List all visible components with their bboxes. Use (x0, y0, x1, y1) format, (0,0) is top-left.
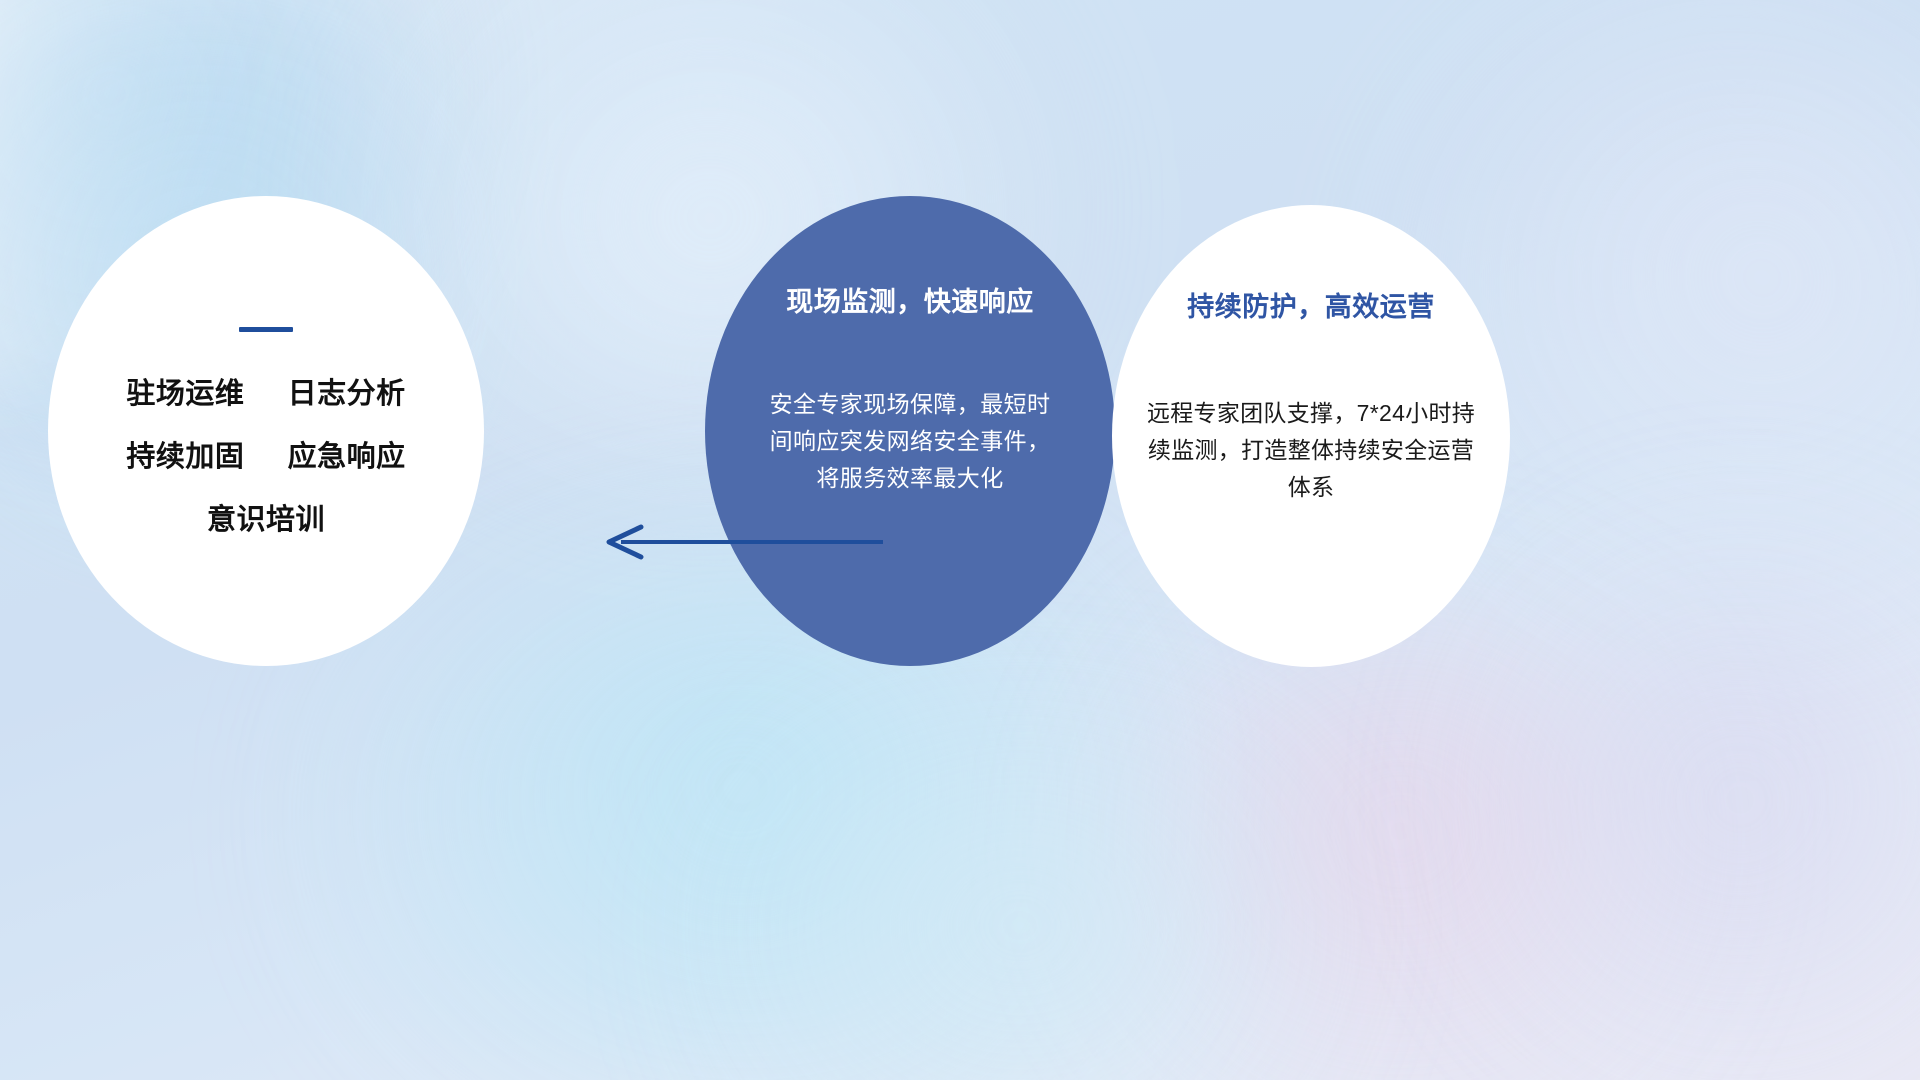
capability-label: 应急响应 (288, 441, 406, 473)
capability-row: 驻场运维 日志分析 (126, 380, 405, 409)
slide-canvas: 驻场运维 日志分析 持续加固 应急响应 意识培训 现场监测，快速响应 安全专家现… (0, 0, 1920, 1080)
capability-label: 持续加固 (126, 441, 244, 473)
divider-dash (239, 327, 293, 332)
onsite-monitoring-title: 现场监测，快速响应 (786, 288, 1034, 318)
onsite-monitoring-body: 安全专家现场保障，最短时间响应突发网络安全事件，将服务效率最大化 (760, 386, 1060, 498)
capability-row-last: 意识培训 (207, 506, 325, 535)
capabilities-content: 驻场运维 日志分析 持续加固 应急响应 意识培训 (48, 196, 484, 666)
capability-label: 日志分析 (288, 378, 406, 410)
continuous-protection-content: 持续防护，高效运营 远程专家团队支撑，7*24小时持续监测，打造整体持续安全运营… (1112, 205, 1510, 667)
capability-row: 持续加固 应急响应 (126, 443, 405, 472)
continuous-protection-title: 持续防护，高效运营 (1187, 293, 1435, 323)
onsite-monitoring-content: 现场监测，快速响应 安全专家现场保障，最短时间响应突发网络安全事件，将服务效率最… (705, 196, 1115, 666)
continuous-protection-body: 远程专家团队支撑，7*24小时持续监测，打造整体持续安全运营体系 (1139, 395, 1484, 507)
capability-label: 驻场运维 (126, 378, 244, 410)
